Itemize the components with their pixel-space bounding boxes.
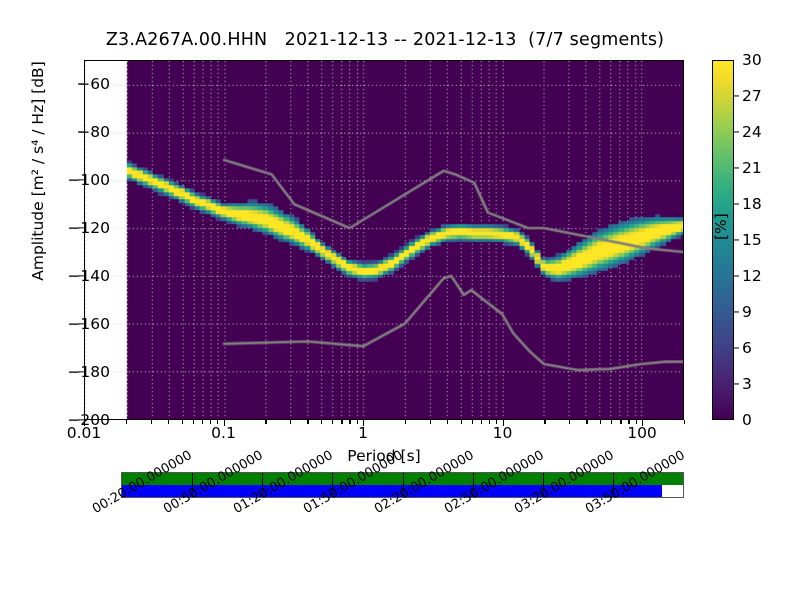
x-tick-label: 10 <box>458 424 548 442</box>
timeline-segment-divider <box>262 473 263 485</box>
x-tick-mark <box>642 420 643 426</box>
x-tick-mark <box>332 420 333 424</box>
x-tick-mark <box>202 420 203 424</box>
colorbar-tick-label: 21 <box>742 159 800 177</box>
x-tick-mark <box>600 420 601 424</box>
timeline-segment-divider <box>543 473 544 485</box>
y-tick-label: −120 <box>0 219 110 237</box>
x-tick-mark <box>193 420 194 424</box>
x-tick-mark <box>210 420 211 424</box>
x-tick-mark <box>472 420 473 424</box>
x-tick-mark <box>684 420 685 424</box>
x-tick-mark <box>489 420 490 424</box>
ppsd-heatmap-canvas <box>85 61 683 419</box>
x-tick-mark <box>307 420 308 424</box>
x-tick-mark <box>217 420 218 424</box>
x-tick-mark <box>341 420 342 424</box>
y-tick-mark <box>78 323 84 324</box>
y-tick-mark <box>78 275 84 276</box>
colorbar-tick-mark <box>734 311 739 312</box>
colorbar-tick-label: 24 <box>742 123 800 141</box>
x-tick-mark <box>636 420 637 424</box>
colorbar-tick-mark <box>734 275 739 276</box>
x-tick-mark <box>349 420 350 424</box>
x-tick-mark <box>363 420 364 426</box>
colorbar-tick-label: 3 <box>742 375 800 393</box>
x-tick-mark <box>182 420 183 424</box>
x-tick-mark <box>224 420 225 426</box>
x-tick-mark <box>430 420 431 424</box>
colorbar-tick-mark <box>734 203 739 204</box>
colorbar-tick-label: 18 <box>742 195 800 213</box>
x-tick-mark <box>586 420 587 424</box>
x-tick-mark <box>481 420 482 424</box>
y-tick-label: −160 <box>0 315 110 333</box>
x-tick-mark <box>84 420 85 426</box>
colorbar-tick-label: 0 <box>742 411 800 429</box>
y-tick-label: −80 <box>0 123 110 141</box>
page-title: Z3.A267A.00.HHN 2021-12-13 -- 2021-12-13… <box>0 30 770 50</box>
y-tick-label: −60 <box>0 75 110 93</box>
x-tick-mark <box>461 420 462 424</box>
x-tick-mark <box>357 420 358 424</box>
x-tick-mark <box>496 420 497 424</box>
timeline-segment-divider <box>613 473 614 485</box>
colorbar-tick-label: 30 <box>742 51 800 69</box>
x-tick-mark <box>620 420 621 424</box>
colorbar-tick-label: 15 <box>742 231 800 249</box>
y-tick-mark <box>78 83 84 84</box>
x-tick-mark <box>321 420 322 424</box>
colorbar-tick-label: 27 <box>742 87 800 105</box>
x-tick-label: 100 <box>597 424 687 442</box>
y-tick-label: −140 <box>0 267 110 285</box>
timeline-segment-divider <box>192 473 193 485</box>
ppsd-figure: Z3.A267A.00.HHN 2021-12-13 -- 2021-12-13… <box>0 0 800 600</box>
x-tick-label: 0.01 <box>39 424 129 442</box>
colorbar-tick-label: 12 <box>742 267 800 285</box>
y-tick-mark <box>78 227 84 228</box>
x-tick-mark <box>447 420 448 424</box>
colorbar-tick-label: 9 <box>742 303 800 321</box>
y-tick-mark <box>78 179 84 180</box>
x-tick-mark <box>611 420 612 424</box>
colorbar-tick-mark <box>734 239 739 240</box>
y-tick-mark <box>78 371 84 372</box>
y-tick-label: −100 <box>0 171 110 189</box>
x-tick-label: 1 <box>318 424 408 442</box>
x-tick-mark <box>544 420 545 424</box>
timeline-segment-divider <box>403 473 404 485</box>
x-tick-mark <box>569 420 570 424</box>
x-tick-mark <box>628 420 629 424</box>
ppsd-plot-area[interactable] <box>84 60 684 420</box>
x-tick-mark <box>405 420 406 424</box>
colorbar-tick-mark <box>734 347 739 348</box>
x-tick-mark <box>265 420 266 424</box>
colorbar-tick-label: 6 <box>742 339 800 357</box>
colorbar-tick-mark <box>734 131 739 132</box>
timeline-segment-divider <box>332 473 333 485</box>
x-tick-mark <box>168 420 169 424</box>
x-tick-label: 0.1 <box>179 424 269 442</box>
colorbar-tick-mark <box>734 383 739 384</box>
x-tick-mark <box>290 420 291 424</box>
timeline-segment-divider <box>473 473 474 485</box>
x-tick-mark <box>503 420 504 426</box>
y-tick-mark <box>78 131 84 132</box>
colorbar-tick-mark <box>734 167 739 168</box>
colorbar-label: [%] <box>712 100 730 240</box>
x-tick-mark <box>126 420 127 424</box>
y-tick-label: −180 <box>0 363 110 381</box>
colorbar-tick-mark <box>734 95 739 96</box>
x-tick-mark <box>151 420 152 424</box>
